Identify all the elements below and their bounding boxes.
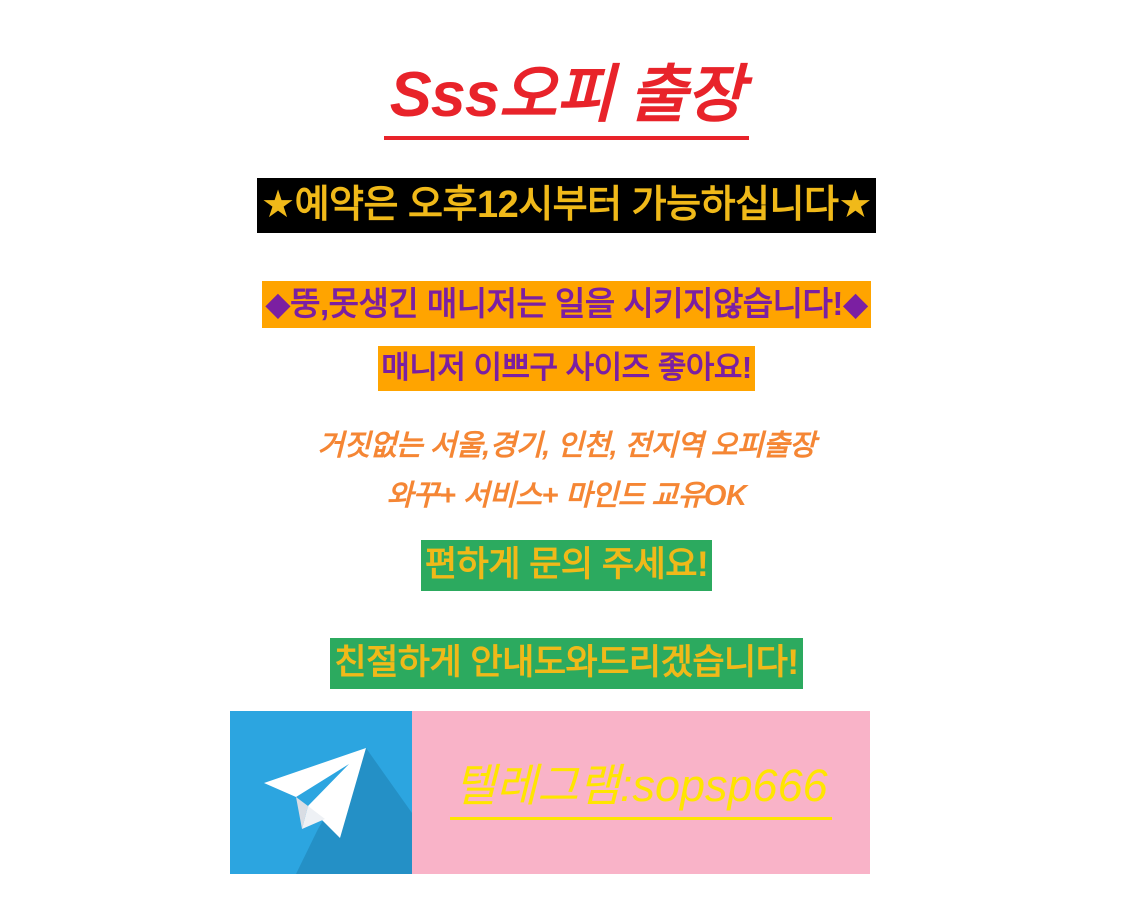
telegram-handle-panel[interactable]: 텔레그램:sopsp666 [412, 711, 870, 874]
service-area-line-2: 와꾸+ 서비스+ 마인드 교유OK [0, 470, 1133, 523]
page-title-container: Sss오피 출장 [0, 62, 1133, 140]
manager-quality-row: 매니저 이쁘구 사이즈 좋아요! [0, 346, 1133, 391]
kind-guidance-row: 친절하게 안내도와드리겠습니다! [0, 638, 1133, 689]
advertisement-page: Sss오피 출장 ★예약은 오후12시부터 가능하십니다★ ◆뚱,못생긴 매니저… [0, 0, 1133, 904]
service-area-line-1: 거짓없는 서울,경기, 인천, 전지역 오피출장 [0, 420, 1133, 473]
page-title: Sss오피 출장 [384, 62, 749, 140]
banner-kind-guidance: 친절하게 안내도와드리겠습니다! [330, 638, 802, 689]
banner-reservation-hours: ★예약은 오후12시부터 가능하십니다★ [257, 178, 876, 233]
manager-policy-row: ◆뚱,못생긴 매니저는 일을 시키지않습니다!◆ [0, 281, 1133, 328]
contact-invite-row: 편하게 문의 주세요! [0, 540, 1133, 591]
reservation-hours-row: ★예약은 오후12시부터 가능하십니다★ [0, 178, 1133, 233]
telegram-icon [230, 711, 412, 874]
telegram-handle-text[interactable]: 텔레그램:sopsp666 [450, 761, 831, 820]
telegram-contact-block[interactable]: 텔레그램:sopsp666 [230, 711, 870, 874]
banner-manager-quality: 매니저 이쁘구 사이즈 좋아요! [378, 346, 754, 391]
banner-contact-invite: 편하게 문의 주세요! [421, 540, 712, 591]
banner-manager-policy: ◆뚱,못생긴 매니저는 일을 시키지않습니다!◆ [262, 281, 871, 328]
